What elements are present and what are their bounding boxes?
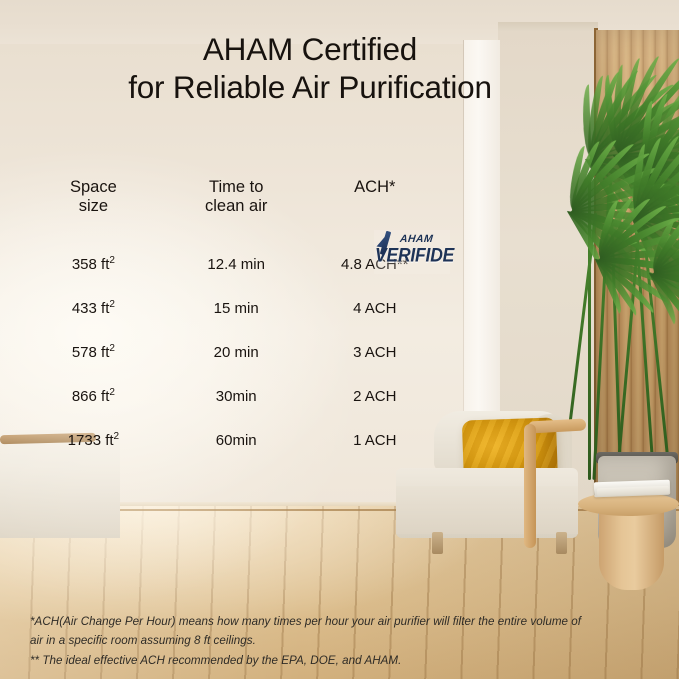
table-row: 433 ft2 15 min 4 ACH bbox=[22, 286, 442, 330]
header-time-line1: Time to bbox=[209, 178, 263, 196]
column-header-space-size: Space size bbox=[22, 178, 165, 242]
title-line-2: for Reliable Air Purification bbox=[0, 68, 620, 106]
table-row: 578 ft2 20 min 3 ACH bbox=[22, 330, 442, 374]
footnote-line-1: *ACH(Air Change Per Hour) means how many… bbox=[30, 612, 656, 631]
space-unit-superscript: 2 bbox=[109, 387, 115, 398]
header-ach-line1: ACH* bbox=[354, 178, 395, 196]
footnote-line-3: ** The ideal effective ACH recommended b… bbox=[30, 651, 656, 670]
cell-ach: 4 ACH bbox=[308, 286, 442, 330]
cell-space-size: 433 ft2 bbox=[22, 286, 165, 330]
page-title: AHAM Certified for Reliable Air Purifica… bbox=[0, 30, 620, 106]
title-line-1: AHAM Certified bbox=[203, 31, 417, 67]
badge-verifide-text: VERIFIDE bbox=[375, 244, 454, 268]
header-time-line2: clean air bbox=[165, 197, 308, 216]
space-value: 358 ft bbox=[72, 256, 110, 273]
cell-time: 15 min bbox=[165, 286, 308, 330]
cell-time: 20 min bbox=[165, 330, 308, 374]
cell-time: 30min bbox=[165, 374, 308, 418]
table-row: 1733 ft2 60min 1 ACH bbox=[22, 418, 442, 462]
space-value: 1733 ft bbox=[68, 432, 114, 449]
cell-ach: 1 ACH bbox=[308, 418, 442, 462]
header-space-line1: Space bbox=[70, 178, 117, 196]
cell-time: 60min bbox=[165, 418, 308, 462]
cell-ach: 2 ACH bbox=[308, 374, 442, 418]
space-unit-superscript: 2 bbox=[109, 299, 115, 310]
aham-verifide-badge: AHAM VERIFIDE bbox=[374, 230, 450, 274]
ach-table: Space size Time to clean air ACH* 358 ft… bbox=[22, 178, 442, 462]
cell-space-size: 578 ft2 bbox=[22, 330, 165, 374]
cell-time: 12.4 min bbox=[165, 242, 308, 286]
footnote-line-2: air in a specific room assuming 8 ft cei… bbox=[30, 631, 656, 650]
table-body: 358 ft2 12.4 min 4.8 ACH** 433 ft2 15 mi… bbox=[22, 242, 442, 462]
table-row: 866 ft2 30min 2 ACH bbox=[22, 374, 442, 418]
cell-space-size: 358 ft2 bbox=[22, 242, 165, 286]
column-header-time-to-clean-air: Time to clean air bbox=[165, 178, 308, 242]
space-value: 866 ft bbox=[72, 388, 110, 405]
header-space-line2: size bbox=[22, 197, 165, 216]
cell-ach: 3 ACH bbox=[308, 330, 442, 374]
cell-space-size: 1733 ft2 bbox=[22, 418, 165, 462]
cell-space-size: 866 ft2 bbox=[22, 374, 165, 418]
space-unit-superscript: 2 bbox=[109, 255, 115, 266]
space-value: 578 ft bbox=[72, 344, 110, 361]
footnotes: *ACH(Air Change Per Hour) means how many… bbox=[30, 612, 656, 670]
space-unit-superscript: 2 bbox=[109, 343, 115, 354]
ach-table-container: Space size Time to clean air ACH* 358 ft… bbox=[22, 178, 442, 462]
space-value: 433 ft bbox=[72, 300, 110, 317]
infographic-overlay: AHAM Certified for Reliable Air Purifica… bbox=[0, 0, 679, 679]
space-unit-superscript: 2 bbox=[114, 431, 120, 442]
